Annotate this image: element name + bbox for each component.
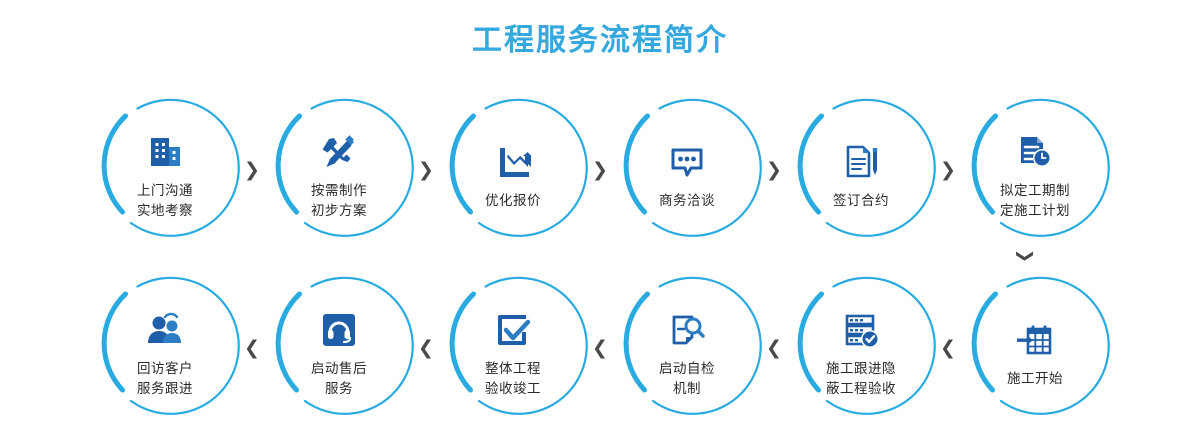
flow-node-step-10[interactable]: 整体工程 验收竣工: [437, 273, 589, 425]
flow-node-step-6[interactable]: 拟定工期制 定施工计划: [959, 95, 1111, 247]
node-label-line-1: 按需制作: [311, 181, 367, 201]
node-label-line-2: 初步方案: [311, 201, 367, 221]
connector-right-2: ❯: [415, 95, 437, 247]
flow-node-step-7[interactable]: 施工开始: [959, 273, 1111, 425]
node-label-line-1: 签订合约: [833, 191, 889, 211]
node-label-line-2: 验收竣工: [485, 379, 541, 399]
node-label-line-1: 施工开始: [1007, 369, 1063, 389]
node-label-line-2: 定施工计划: [1000, 201, 1070, 221]
connector-left-1: ❮: [241, 273, 263, 425]
document-clock-icon: [1009, 127, 1061, 177]
flow-node-step-1[interactable]: 上门沟通 实地考察: [89, 95, 241, 247]
flow-node-step-8[interactable]: 施工跟进隐 蔽工程验收: [785, 273, 937, 425]
connector-left-3: ❮: [589, 273, 611, 425]
connector-left-2: ❮: [415, 273, 437, 425]
connector-right-1: ❯: [241, 95, 263, 247]
connector-left-5: ❮: [937, 273, 959, 425]
wrench-screwdriver-icon: [313, 127, 365, 177]
contract-pen-icon: [835, 137, 887, 187]
speech-bubble-icon: [661, 137, 713, 187]
node-label-line-1: 回访客户: [137, 359, 193, 379]
flow-node-step-4[interactable]: 商务洽谈: [611, 95, 763, 247]
node-label-line-2: 服务: [325, 379, 353, 399]
chevron-down-icon: ❮: [1013, 236, 1035, 276]
flow-node-step-12[interactable]: 回访客户 服务跟进: [89, 273, 241, 425]
check-bracket-icon: [487, 305, 539, 355]
node-label-line-2: 蔽工程验收: [826, 379, 896, 399]
node-label-line-2: 机制: [673, 379, 701, 399]
node-label-line-1: 商务洽谈: [659, 191, 715, 211]
node-label-line-1: 优化报价: [485, 191, 541, 211]
document-search-icon: [661, 305, 713, 355]
node-label-line-1: 施工跟进隐: [826, 359, 896, 379]
building-icon: [139, 127, 191, 177]
node-label-line-2: 服务跟进: [137, 379, 193, 399]
node-label-line-1: 上门沟通: [137, 181, 193, 201]
calendar-start-icon: [1009, 315, 1061, 365]
connector-left-4: ❮: [763, 273, 785, 425]
flow-row-2: 回访客户 服务跟进 ❮: [0, 266, 1200, 431]
chart-down-icon: [487, 137, 539, 187]
users-icon: [139, 305, 191, 355]
page-title: 工程服务流程简介: [0, 22, 1200, 60]
headset-icon: [313, 305, 365, 355]
flow-node-step-5[interactable]: 签订合约: [785, 95, 937, 247]
flow-node-step-3[interactable]: 优化报价: [437, 95, 589, 247]
flow-node-step-11[interactable]: 启动售后 服务: [263, 273, 415, 425]
node-label-line-1: 启动自检: [659, 359, 715, 379]
node-label-line-1: 启动售后: [311, 359, 367, 379]
node-label-line-2: 实地考察: [137, 201, 193, 221]
node-label-line-1: 整体工程: [485, 359, 541, 379]
flow-node-step-9[interactable]: 启动自检 机制: [611, 273, 763, 425]
connector-right-3: ❯: [589, 95, 611, 247]
node-label-line-1: 拟定工期制: [1000, 181, 1070, 201]
flow-node-step-2[interactable]: 按需制作 初步方案: [263, 95, 415, 247]
server-check-icon: [835, 305, 887, 355]
connector-right-4: ❯: [763, 95, 785, 247]
flow-row-1: 上门沟通 实地考察 ❯: [0, 88, 1200, 253]
connector-right-5: ❯: [937, 95, 959, 247]
